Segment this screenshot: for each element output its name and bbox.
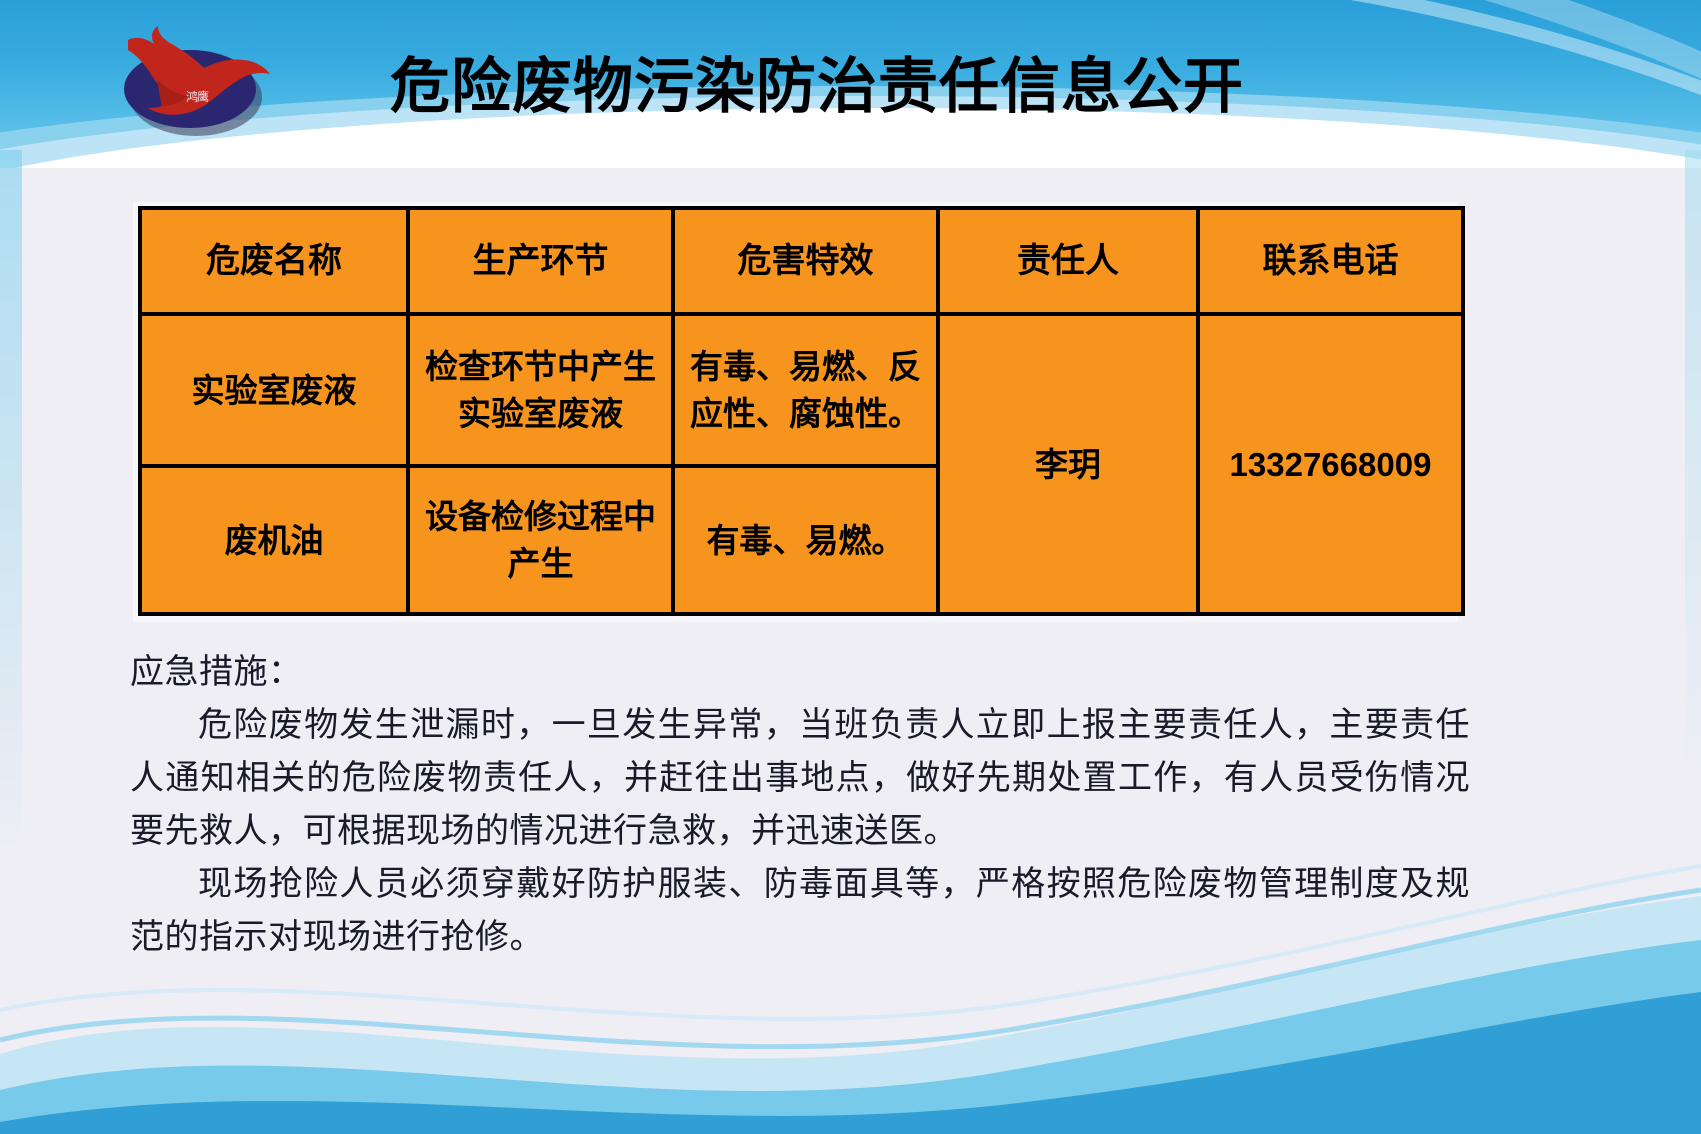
cell-stage-2: 设备检修过程中产生 [408,466,673,614]
hazardous-waste-table: 危废名称 生产环节 危害特效 责任人 联系电话 实验室废液 检查环节中产生实验室… [138,206,1465,616]
emergency-paragraph-1: 危险废物发生泄漏时，一旦发生异常，当班负责人立即上报主要责任人，主要责任人通知相… [130,699,1470,858]
slide-canvas: 鸿鹰 危险废物污染防治责任信息公开 危废名称 生产环节 危害特效 责任人 联系电… [0,0,1701,1134]
table-header-phone: 联系电话 [1198,208,1463,314]
cell-hazard-2: 有毒、易燃。 [673,466,938,614]
cell-person: 李玥 [938,314,1198,614]
logo-mark-text: 鸿鹰 [186,88,208,105]
page-title: 危险废物污染防治责任信息公开 [390,52,1290,122]
table-row: 实验室废液 检查环节中产生实验室废液 有毒、易燃、反应性、腐蚀性。 李玥 133… [140,314,1463,466]
emergency-measures-label: 应急措施： [130,646,1470,699]
left-edge-accent [0,150,22,850]
cell-waste-name-2: 废机油 [140,466,408,614]
table-header-person: 责任人 [938,208,1198,314]
cell-stage-1: 检查环节中产生实验室废液 [408,314,673,466]
table-header-waste-name: 危废名称 [140,208,408,314]
table-header-stage: 生产环节 [408,208,673,314]
hazardous-waste-table-wrapper: 危废名称 生产环节 危害特效 责任人 联系电话 实验室废液 检查环节中产生实验室… [133,202,1458,622]
table-header-hazard: 危害特效 [673,208,938,314]
emergency-paragraph-2: 现场抢险人员必须穿戴好防护服装、防毒面具等，严格按照危险废物管理制度及规范的指示… [130,858,1470,964]
cell-waste-name-1: 实验室废液 [140,314,408,466]
emergency-measures-section: 应急措施： 危险废物发生泄漏时，一旦发生异常，当班负责人立即上报主要责任人，主要… [130,646,1470,964]
cell-phone: 13327668009 [1198,314,1463,614]
eagle-emblem-logo: 鸿鹰 [112,22,282,138]
cell-hazard-1: 有毒、易燃、反应性、腐蚀性。 [673,314,938,466]
right-edge-accent [1685,150,1701,770]
eagle-icon [112,22,282,138]
table-header-row: 危废名称 生产环节 危害特效 责任人 联系电话 [140,208,1463,314]
